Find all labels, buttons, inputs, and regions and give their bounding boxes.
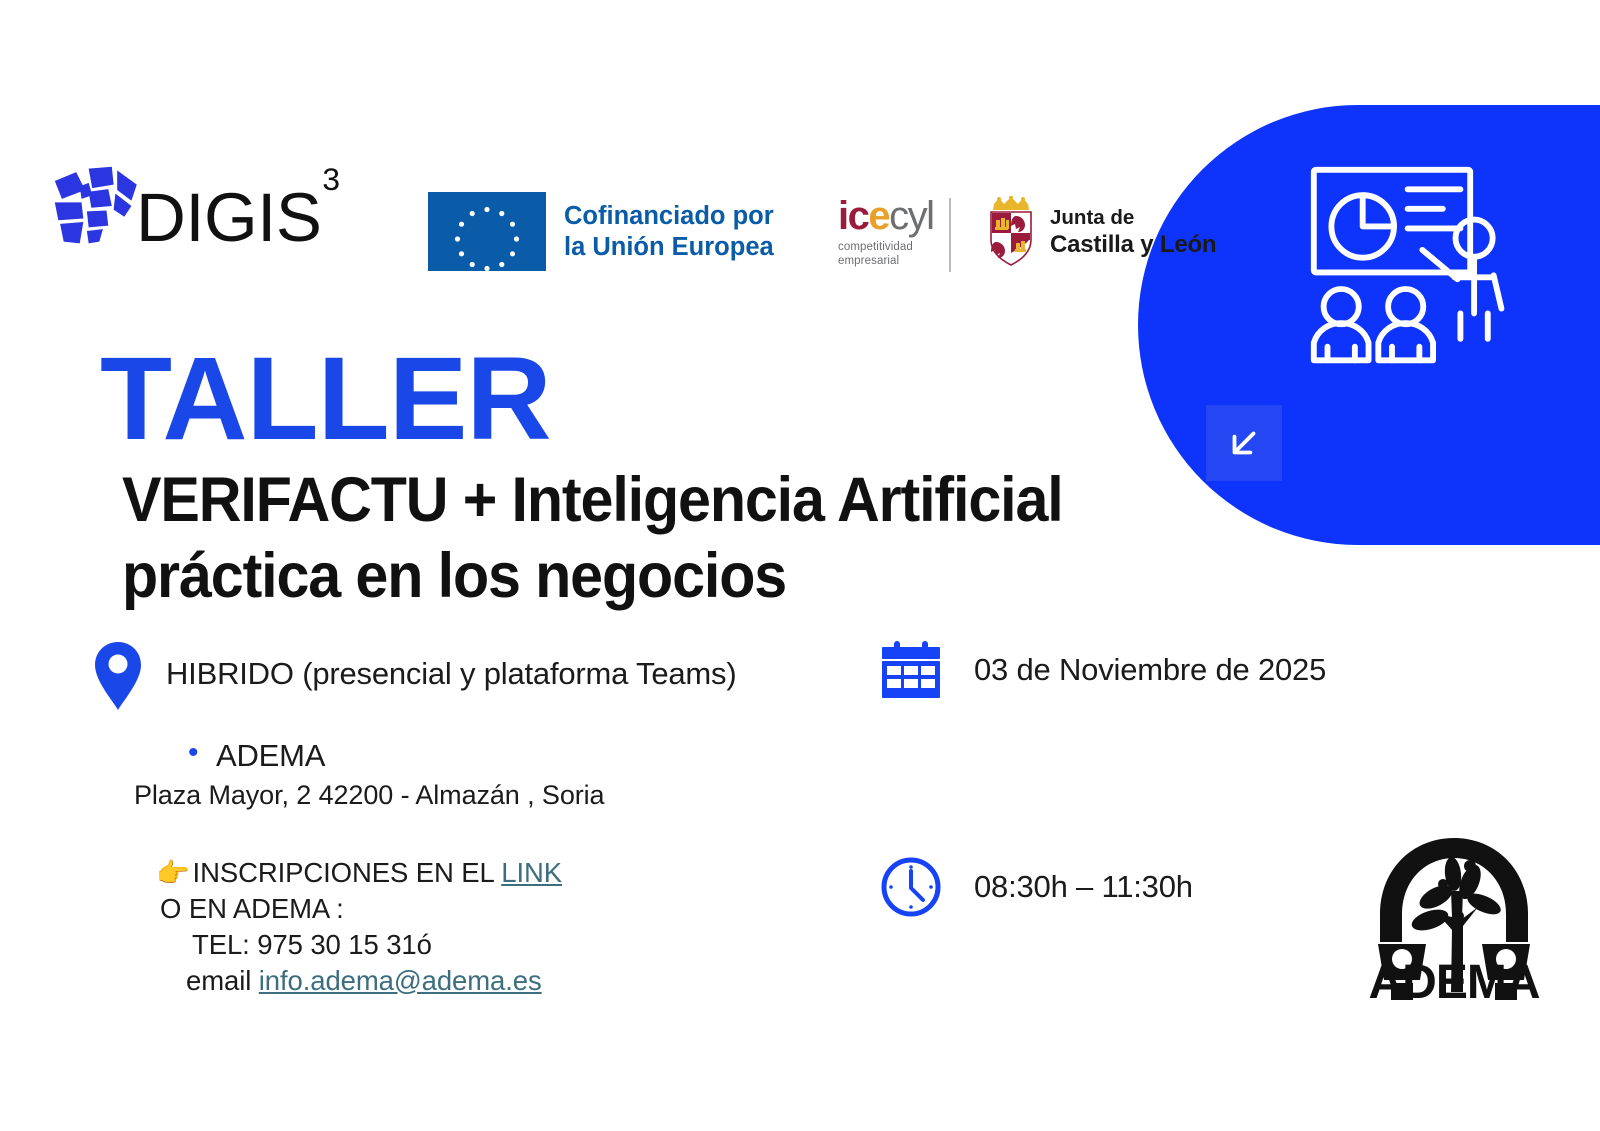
junta-castilla-leon-text: Junta de Castilla y León: [1050, 205, 1216, 259]
registration-link[interactable]: LINK: [501, 857, 562, 888]
icecyl-cyl: cyl: [889, 196, 933, 236]
icecyl-e: e: [868, 196, 889, 236]
date-text: 03 de Noviembre de 2025: [974, 652, 1326, 688]
subtitle-line-1: VERIFACTU + Inteligencia Artificial: [122, 466, 1126, 536]
date-row: 03 de Noviembre de 2025: [880, 640, 1400, 700]
details-left-column: HIBRIDO (presencial y plataforma Teams) …: [88, 640, 888, 998]
clock-icon: [880, 856, 942, 918]
hero-blob-shape: [1138, 105, 1600, 545]
venue-list: ADEMA: [188, 738, 888, 774]
arrow-chip[interactable]: [1206, 405, 1282, 481]
calendar-icon: [880, 640, 942, 700]
pointing-hand-right-emoji-icon: 👉: [156, 858, 190, 888]
presentation-training-icon: [1306, 160, 1521, 375]
signup-line-2: O EN ADEMA :: [160, 891, 888, 927]
venue-name: ADEMA: [188, 738, 888, 774]
icecyl-logo: icecyl competitividad empresarial: [838, 196, 934, 269]
digis-mosaic-mark-icon: [48, 165, 140, 247]
junta-castilla-leon-logo: Junta de Castilla y León: [982, 196, 1216, 268]
venue-address: Plaza Mayor, 2 42200 - Almazán , Soria: [134, 780, 888, 811]
headline-block: TALLER VERIFACTU + Inteligencia Artifici…: [100, 340, 1190, 612]
icecyl-wordmark: icecyl: [838, 196, 934, 236]
logo-divider: [949, 198, 951, 272]
time-row: 08:30h – 11:30h: [880, 856, 1400, 918]
page-title: TALLER: [100, 340, 1190, 458]
digis-superscript: 3: [322, 161, 339, 197]
adema-arch-tree-icon: ADEMA: [1358, 822, 1550, 1002]
castilla-y-leon-coat-of-arms-icon: [982, 196, 1040, 268]
jcyl-line-1: Junta de: [1050, 205, 1216, 230]
modality-text: HIBRIDO (presencial y plataforma Teams): [166, 656, 736, 692]
email-label: email: [186, 965, 259, 996]
eu-line-2: la Unión Europea: [564, 232, 774, 263]
modality-row: HIBRIDO (presencial y plataforma Teams): [88, 640, 888, 712]
icecyl-ic: ic: [838, 196, 868, 236]
signup-line-4: email info.adema@adema.es: [186, 963, 888, 999]
signup-line-1: 👉INSCRIPCIONES EN EL LINK: [156, 855, 888, 891]
arrow-down-left-icon: [1225, 424, 1263, 462]
svg-text:ADEMA: ADEMA: [1369, 956, 1540, 1002]
sponsor-logo-row: DIGIS3: [0, 0, 1140, 300]
eu-flag-icon: [428, 192, 546, 271]
icecyl-tagline-1: competitividad: [838, 240, 934, 254]
signup-line-1-prefix: INSCRIPCIONES EN EL: [193, 857, 502, 888]
subtitle-line-2: práctica en los negocios: [122, 542, 1126, 612]
details-right-column: 03 de Noviembre de 2025 08:30h – 11:30h: [880, 640, 1400, 918]
icecyl-tagline-2: empresarial: [838, 254, 934, 268]
jcyl-line-2: Castilla y León: [1050, 230, 1216, 259]
eu-line-1: Cofinanciado por: [564, 201, 774, 232]
eu-cofunding-text: Cofinanciado por la Unión Europea: [564, 201, 774, 263]
location-pin-icon: [92, 640, 144, 712]
time-text: 08:30h – 11:30h: [974, 869, 1193, 905]
icecyl-tagline: competitividad empresarial: [838, 240, 934, 269]
eu-cofunding-logo: Cofinanciado por la Unión Europea: [428, 192, 774, 271]
email-link[interactable]: info.adema@adema.es: [259, 965, 542, 996]
digis3-logo: DIGIS3: [48, 165, 345, 247]
signup-line-3-phone: TEL: 975 30 15 31ó: [192, 927, 888, 963]
digis-name: DIGIS: [136, 179, 321, 256]
poster-canvas: DIGIS3: [0, 0, 1600, 1131]
digis-wordmark: DIGIS3: [136, 190, 339, 247]
signup-block: 👉INSCRIPCIONES EN EL LINK O EN ADEMA : T…: [156, 855, 888, 998]
